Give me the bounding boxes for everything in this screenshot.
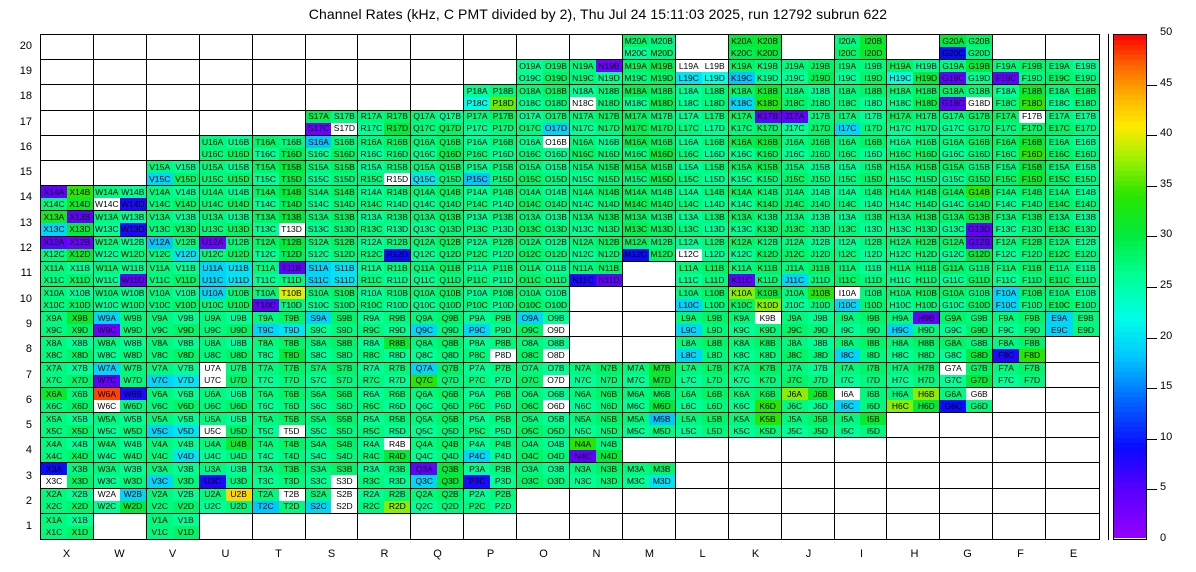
channel-label: I8D: [867, 351, 880, 360]
channel-label: Q5B: [442, 415, 459, 424]
heatmap-cell: T5AT5BT5CT5D: [253, 413, 306, 438]
channel-sub-cell: L5C: [676, 425, 702, 437]
channel-label: P7D: [495, 376, 512, 385]
channel-label: K15D: [757, 175, 778, 184]
channel-label: O6A: [522, 390, 539, 399]
channel-label: T5D: [283, 427, 299, 436]
channel-sub-cell: V12B: [173, 237, 199, 249]
channel-label: W11A: [96, 264, 119, 273]
channel-label: M13D: [650, 225, 673, 234]
channel-label: M6A: [627, 390, 644, 399]
channel-sub-cell: F8D: [1019, 349, 1045, 361]
channel-sub-cell: G7B: [966, 363, 992, 375]
channel-sub-cell: W9B: [120, 312, 146, 324]
heatmap-cell: S15AS15BS15CS15D: [306, 161, 359, 186]
heatmap-cell: O11AO11BO11CO11D: [517, 262, 570, 287]
channel-sub-cell: L14B: [702, 186, 728, 198]
channel-label: K5A: [734, 415, 750, 424]
channel-label: I17B: [865, 112, 883, 121]
channel-label: M5D: [653, 427, 671, 436]
colorbar-tick: [1147, 489, 1157, 490]
channel-sub-cell: M7C: [623, 375, 649, 387]
channel-label: F18A: [996, 87, 1016, 96]
channel-label: R3C: [363, 477, 380, 486]
channel-label: X10C: [43, 301, 64, 310]
channel-label: F18C: [996, 99, 1017, 108]
channel-label: X3C: [46, 477, 63, 486]
channel-label: Q5A: [416, 415, 433, 424]
heatmap-cell-empty: [940, 463, 993, 488]
channel-sub-cell: T9A: [253, 312, 279, 324]
channel-label: R10B: [387, 289, 408, 298]
channel-label: U13C: [202, 225, 224, 234]
channel-sub-cell: R12C: [358, 249, 384, 261]
channel-label: G16A: [942, 138, 964, 147]
channel-sub-cell: V2B: [173, 489, 199, 501]
channel-label: R9A: [363, 314, 380, 323]
heatmap-cell: V7AV7BV7CV7D: [147, 363, 200, 388]
channel-label: J5C: [787, 427, 802, 436]
heatmap-cell: E13AE13BE13CE13D: [1046, 211, 1099, 236]
channel-label: Q3B: [442, 465, 459, 474]
heatmap-cell: H15AH15BH15CH15D: [887, 161, 940, 186]
channel-label: I8C: [841, 351, 854, 360]
heatmap-cell-empty: [1046, 337, 1099, 362]
channel-sub-cell: K9D: [755, 324, 781, 336]
channel-label: E13C: [1049, 225, 1070, 234]
channel-sub-cell: N19B: [596, 60, 622, 72]
channel-label: K6B: [760, 390, 776, 399]
channel-sub-cell: O15B: [543, 161, 569, 173]
channel-sub-cell: F8B: [1019, 337, 1045, 349]
channel-label: O14B: [545, 188, 567, 197]
channel-sub-cell: O13D: [543, 223, 569, 235]
channel-label: T9D: [283, 326, 299, 335]
channel-sub-cell: M12B: [649, 237, 675, 249]
heatmap-cell: S13AS13BS13CS13D: [306, 211, 359, 236]
channel-sub-cell: K6B: [755, 388, 781, 400]
channel-sub-cell: X3B: [67, 463, 93, 475]
channel-sub-cell: T10D: [279, 299, 305, 311]
channel-label: P2C: [469, 502, 486, 511]
channel-sub-cell: X3A: [41, 463, 67, 475]
channel-sub-cell: W11D: [120, 274, 146, 286]
channel-sub-cell: R5A: [358, 413, 384, 425]
channel-sub-cell: W14C: [94, 198, 120, 210]
channel-sub-cell: X10A: [41, 287, 67, 299]
channel-sub-cell: V5D: [173, 425, 199, 437]
channel-label: W9C: [97, 326, 116, 335]
channel-sub-cell: W13B: [120, 211, 146, 223]
channel-label: N19A: [572, 62, 593, 71]
channel-sub-cell: K16B: [755, 136, 781, 148]
channel-sub-cell: L5D: [702, 425, 728, 437]
x-axis-label: L: [676, 548, 729, 560]
heatmap-cell: V15AV15BV15CV15D: [147, 161, 200, 186]
channel-label: T12A: [255, 238, 275, 247]
channel-sub-cell: G16A: [940, 136, 966, 148]
channel-label: R8B: [389, 339, 406, 348]
channel-label: J6A: [787, 390, 802, 399]
channel-sub-cell: H18C: [887, 97, 913, 109]
channel-label: J10C: [785, 301, 805, 310]
channel-sub-cell: O16A: [517, 136, 543, 148]
channel-label: Q6D: [441, 402, 458, 411]
heatmap-cell: P7AP7BP7CP7D: [464, 363, 517, 388]
channel-label: W5C: [97, 427, 116, 436]
channel-label: G9C: [945, 326, 962, 335]
channel-sub-cell: W4B: [120, 438, 146, 450]
channel-label: F10A: [996, 289, 1016, 298]
channel-label: P5A: [469, 415, 485, 424]
heatmap-cell: O9AO9BO9CO9D: [517, 312, 570, 337]
channel-sub-cell: I9C: [835, 324, 861, 336]
channel-label: L14B: [705, 188, 725, 197]
channel-label: G8B: [971, 339, 988, 348]
channel-sub-cell: S17D: [331, 123, 357, 135]
channel-sub-cell: N5D: [596, 425, 622, 437]
heatmap-cell: L12AL12BL12CL12D: [676, 237, 729, 262]
channel-sub-cell: S3A: [306, 463, 332, 475]
channel-label: N3B: [601, 465, 618, 474]
channel-sub-cell: K11C: [729, 274, 755, 286]
channel-label: G6A: [945, 390, 962, 399]
channel-sub-cell: M3C: [623, 475, 649, 487]
channel-sub-cell: L17C: [676, 123, 702, 135]
channel-sub-cell: S11C: [306, 274, 332, 286]
channel-label: S5A: [310, 415, 326, 424]
channel-label: S12D: [334, 250, 355, 259]
channel-sub-cell: N17A: [570, 111, 596, 123]
channel-sub-cell: U2C: [200, 501, 226, 513]
channel-sub-cell: I8D: [860, 349, 886, 361]
channel-label: K9D: [759, 326, 776, 335]
channel-label: W9A: [98, 314, 116, 323]
channel-label: V14A: [149, 188, 170, 197]
heatmap-cell: T11AT11BT11CT11D: [253, 262, 306, 287]
channel-label: H10D: [915, 301, 937, 310]
channel-sub-cell: K11D: [755, 274, 781, 286]
channel-label: N19C: [572, 74, 594, 83]
channel-label: X5D: [72, 427, 89, 436]
heatmap-cell: T13AT13BT13CT13D: [253, 211, 306, 236]
channel-label: S7C: [310, 376, 327, 385]
channel-sub-cell: E10B: [1073, 287, 1099, 299]
channel-label: K15A: [731, 163, 752, 172]
channel-sub-cell: X4C: [41, 450, 67, 462]
channel-label: U10C: [202, 301, 224, 310]
channel-label: M14C: [625, 200, 648, 209]
channel-label: U11C: [202, 276, 223, 285]
channel-sub-cell: X9B: [67, 312, 93, 324]
channel-label: U10B: [228, 289, 249, 298]
channel-sub-cell: V15A: [147, 161, 173, 173]
channel-label: V3A: [152, 465, 168, 474]
channel-label: N17C: [572, 124, 594, 133]
channel-label: P14D: [492, 200, 513, 209]
channel-sub-cell: F18C: [993, 97, 1019, 109]
heatmap-cell-empty: [993, 438, 1046, 463]
heatmap-cell-empty: [41, 85, 94, 110]
channel-label: K20B: [757, 37, 778, 46]
channel-label: V2A: [152, 490, 168, 499]
channel-label: X2A: [46, 490, 62, 499]
channel-label: P14A: [467, 188, 488, 197]
channel-label: W7A: [98, 364, 116, 373]
channel-label: R13B: [387, 213, 408, 222]
channel-sub-cell: Q12B: [437, 237, 463, 249]
heatmap-cell: Q13AQ13BQ13CQ13D: [411, 211, 464, 236]
channel-sub-cell: V13D: [173, 223, 199, 235]
channel-label: P4D: [495, 452, 512, 461]
heatmap-cell: T8AT8BT8CT8D: [253, 337, 306, 362]
channel-label: L8D: [707, 351, 723, 360]
channel-sub-cell: H19C: [887, 72, 913, 84]
channel-label: H7C: [892, 376, 909, 385]
channel-label: G15A: [942, 163, 964, 172]
heatmap-cell: J18AJ18BJ18CJ18D: [782, 85, 835, 110]
channel-label: W11D: [121, 276, 144, 285]
channel-sub-cell: M13A: [623, 211, 649, 223]
channel-label: K10C: [731, 301, 752, 310]
channel-label: K7A: [734, 364, 750, 373]
channel-label: S12A: [308, 238, 329, 247]
channel-sub-cell: N16C: [570, 148, 596, 160]
channel-label: Q9C: [416, 326, 433, 335]
heatmap-cell-empty: [623, 489, 676, 514]
channel-label: W12A: [95, 238, 118, 247]
channel-sub-cell: J17D: [808, 123, 834, 135]
heatmap-cell: P4AP4BP4CP4D: [464, 438, 517, 463]
channel-sub-cell: W4C: [94, 450, 120, 462]
channel-label: S2A: [310, 490, 326, 499]
channel-label: P17D: [492, 124, 513, 133]
x-axis-label: H: [888, 548, 941, 560]
channel-sub-cell: J15D: [808, 173, 834, 185]
channel-label: K12B: [757, 238, 778, 247]
channel-sub-cell: K10D: [755, 299, 781, 311]
channel-label: F8B: [1024, 339, 1040, 348]
channel-sub-cell: K6D: [755, 400, 781, 412]
channel-label: K7C: [733, 376, 750, 385]
heatmap-cell: J17AJ17BJ17CJ17D: [782, 111, 835, 136]
channel-sub-cell: M18A: [623, 85, 649, 97]
heatmap-cell-empty: [1046, 388, 1099, 413]
channel-label: M13B: [651, 213, 673, 222]
channel-sub-cell: R3B: [384, 463, 410, 475]
channel-label: Q2A: [416, 490, 433, 499]
channel-label: S13D: [334, 225, 355, 234]
channel-label: Q12D: [439, 250, 461, 259]
channel-label: K10D: [757, 301, 778, 310]
channel-sub-cell: X8A: [41, 337, 67, 349]
channel-label: K20D: [757, 49, 778, 58]
channel-label: W13A: [95, 213, 118, 222]
heatmap-cell: R4AR4BR4CR4D: [358, 438, 411, 463]
channel-label: U16C: [202, 150, 224, 159]
channel-label: F17A: [996, 112, 1016, 121]
channel-sub-cell: I17B: [860, 111, 886, 123]
channel-label: K7D: [759, 376, 776, 385]
channel-label: V5C: [151, 427, 168, 436]
channel-sub-cell: U12D: [226, 249, 252, 261]
heatmap-cell: M6AM6BM6CM6D: [623, 388, 676, 413]
heatmap-cell: H7AH7BH7CH7D: [887, 363, 940, 388]
channel-label: F9D: [1024, 326, 1040, 335]
channel-sub-cell: H7D: [913, 375, 939, 387]
channel-sub-cell: J10C: [782, 299, 808, 311]
channel-label: I10C: [838, 301, 856, 310]
heatmap-cell: P3AP3BP3CP3D: [464, 463, 517, 488]
channel-sub-cell: V8C: [147, 349, 173, 361]
channel-sub-cell: N18A: [570, 85, 596, 97]
channel-sub-cell: N11A: [570, 262, 596, 274]
channel-sub-cell: O14A: [517, 186, 543, 198]
channel-label: G10A: [942, 289, 964, 298]
channel-label: W8A: [98, 339, 116, 348]
heatmap-cell: F13AF13BF13CF13D: [993, 211, 1046, 236]
y-axis-label: 1: [2, 520, 32, 532]
heatmap-cell: X3AX3BX3CX3D: [41, 463, 94, 488]
channel-sub-cell: K19C: [729, 72, 755, 84]
channel-sub-cell: N17B: [596, 111, 622, 123]
channel-label: X4D: [72, 452, 89, 461]
channel-label: I19A: [839, 62, 857, 71]
channel-label: M7A: [627, 364, 644, 373]
channel-sub-cell: J14C: [782, 198, 808, 210]
channel-label: O12C: [519, 250, 541, 259]
channel-label: G20D: [968, 49, 990, 58]
channel-label: I10D: [864, 301, 882, 310]
channel-sub-cell: W10D: [120, 299, 146, 311]
channel-sub-cell: L10B: [702, 287, 728, 299]
channel-sub-cell: I18C: [835, 97, 861, 109]
channel-sub-cell: H7B: [913, 363, 939, 375]
channel-label: J7B: [813, 364, 828, 373]
channel-sub-cell: I13A: [835, 211, 861, 223]
channel-label: K16C: [731, 150, 752, 159]
channel-label: G17B: [968, 112, 990, 121]
channel-label: L14A: [679, 188, 699, 197]
heatmap-cell: W11AW11BW11CW11D: [94, 262, 147, 287]
channel-sub-cell: J10D: [808, 299, 834, 311]
channel-label: O9D: [547, 326, 564, 335]
heatmap-cell: Q4AQ4BQ4CQ4D: [411, 438, 464, 463]
channel-label: L11C: [679, 276, 699, 285]
channel-label: K20C: [731, 49, 752, 58]
channel-label: U16B: [228, 138, 249, 147]
colorbar-tick: [1147, 287, 1157, 288]
channel-sub-cell: Q11A: [411, 262, 437, 274]
heatmap-cell-empty: [570, 35, 623, 60]
channel-sub-cell: K10A: [729, 287, 755, 299]
heatmap-cell-empty: [835, 514, 888, 539]
channel-label: X12D: [69, 250, 90, 259]
channel-label: W7D: [123, 376, 142, 385]
channel-sub-cell: E15D: [1073, 173, 1099, 185]
channel-sub-cell: L19D: [702, 72, 728, 84]
channel-label: W8D: [123, 351, 142, 360]
heatmap-cell: N19AN19BN19CN19D: [570, 60, 623, 85]
channel-label: F10D: [1022, 301, 1043, 310]
channel-sub-cell: X14B: [67, 186, 93, 198]
channel-label: M13C: [625, 225, 648, 234]
channel-sub-cell: O15A: [517, 161, 543, 173]
channel-label: S10D: [334, 301, 355, 310]
heatmap-cell: X5AX5BX5CX5D: [41, 413, 94, 438]
channel-label: K13B: [757, 213, 778, 222]
channel-sub-cell: S2A: [306, 489, 332, 501]
channel-sub-cell: T16A: [253, 136, 279, 148]
channel-sub-cell: G8B: [966, 337, 992, 349]
channel-label: F8C: [998, 351, 1014, 360]
channel-sub-cell: E10D: [1073, 299, 1099, 311]
channel-label: J19A: [785, 62, 804, 71]
heatmap-cell-empty: [41, 136, 94, 161]
heatmap-cell: T4AT4BT4CT4D: [253, 438, 306, 463]
channel-sub-cell: I9B: [860, 312, 886, 324]
channel-sub-cell: G6A: [940, 388, 966, 400]
channel-sub-cell: V11B: [173, 262, 199, 274]
channel-label: I13C: [838, 225, 856, 234]
channel-label: G13C: [942, 225, 964, 234]
channel-label: U9D: [230, 326, 247, 335]
channel-label: V13D: [175, 225, 196, 234]
channel-label: P10A: [467, 289, 488, 298]
heatmap-cell: Q11AQ11BQ11CQ11D: [411, 262, 464, 287]
channel-sub-cell: T13D: [279, 223, 305, 235]
channel-sub-cell: R6C: [358, 400, 384, 412]
channel-sub-cell: R10B: [384, 287, 410, 299]
channel-label: S11B: [334, 264, 354, 273]
channel-label: T2C: [258, 502, 274, 511]
channel-label: P4A: [469, 440, 485, 449]
channel-sub-cell: K12B: [755, 237, 781, 249]
channel-sub-cell: P16C: [464, 148, 490, 160]
channel-sub-cell: H6A: [887, 388, 913, 400]
channel-sub-cell: W5D: [120, 425, 146, 437]
heatmap-cell: S11AS11BS11CS11D: [306, 262, 359, 287]
channel-sub-cell: L7A: [676, 363, 702, 375]
channel-label: J15D: [811, 175, 831, 184]
channel-sub-cell: M18B: [649, 85, 675, 97]
heatmap-cell: R7AR7BR7CR7D: [358, 363, 411, 388]
channel-label: L13C: [679, 225, 699, 234]
channel-sub-cell: U6D: [226, 400, 252, 412]
channel-sub-cell: E10C: [1046, 299, 1072, 311]
channel-sub-cell: R3D: [384, 475, 410, 487]
channel-label: E9D: [1078, 326, 1095, 335]
heatmap-cell: N15AN15BN15CN15D: [570, 161, 623, 186]
channel-sub-cell: R15A: [358, 161, 384, 173]
channel-sub-cell: J5A: [782, 413, 808, 425]
channel-sub-cell: X12D: [67, 249, 93, 261]
channel-label: T8A: [258, 339, 274, 348]
channel-label: X6D: [72, 402, 89, 411]
channel-sub-cell: R16C: [358, 148, 384, 160]
channel-sub-cell: M3A: [623, 463, 649, 475]
channel-label: J6C: [787, 402, 802, 411]
channel-label: R2C: [363, 502, 380, 511]
channel-label: R7B: [389, 364, 406, 373]
heatmap-cell: M19AM19BM19CM19D: [623, 60, 676, 85]
channel-label: I13D: [864, 225, 882, 234]
channel-label: O4B: [548, 440, 565, 449]
heatmap-cell-empty: [570, 287, 623, 312]
channel-sub-cell: E12B: [1073, 237, 1099, 249]
channel-label: W10C: [95, 301, 119, 310]
channel-label: Q10B: [439, 289, 461, 298]
